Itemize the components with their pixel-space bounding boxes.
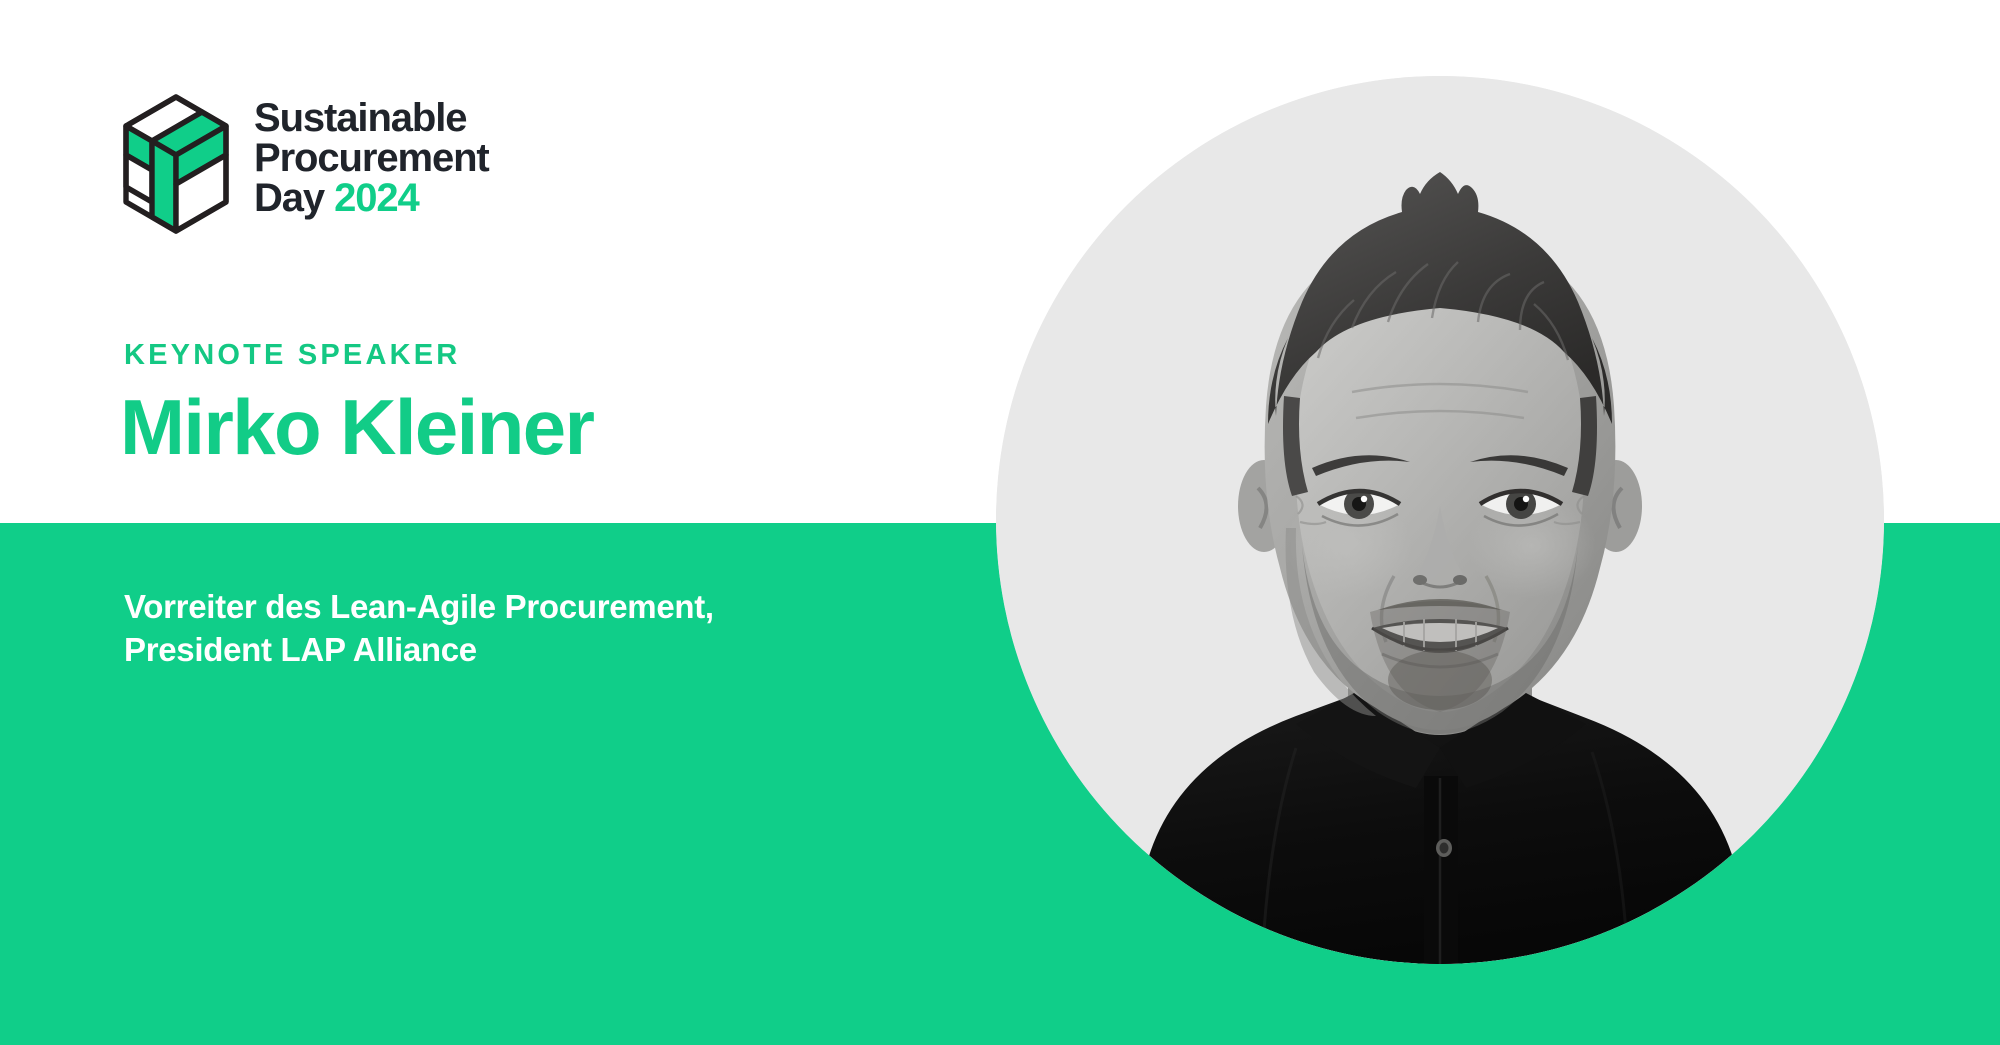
speaker-announcement-card: Sustainable Procurement Day 2024 KEYNOTE…: [0, 0, 2000, 1045]
isometric-cube-logo-icon: [120, 88, 232, 240]
wordmark-line-2: Procurement: [254, 138, 489, 178]
wordmark-line-3: Day 2024: [254, 178, 489, 218]
wordmark-day: Day: [254, 176, 324, 220]
keynote-speaker-eyebrow: KEYNOTE SPEAKER: [124, 339, 460, 372]
wordmark-year: 2024: [334, 176, 419, 220]
event-wordmark: Sustainable Procurement Day 2024: [254, 98, 489, 218]
wordmark-line-1: Sustainable: [254, 98, 489, 138]
speaker-role-line-2: President LAP Alliance: [124, 629, 714, 672]
speaker-portrait: [996, 76, 1884, 964]
portrait-circle: [996, 76, 1884, 964]
event-logo[interactable]: Sustainable Procurement Day 2024: [120, 88, 489, 240]
speaker-name: Mirko Kleiner: [120, 388, 593, 466]
speaker-role: Vorreiter des Lean-Agile Procurement, Pr…: [124, 586, 714, 672]
speaker-role-line-1: Vorreiter des Lean-Agile Procurement,: [124, 586, 714, 629]
